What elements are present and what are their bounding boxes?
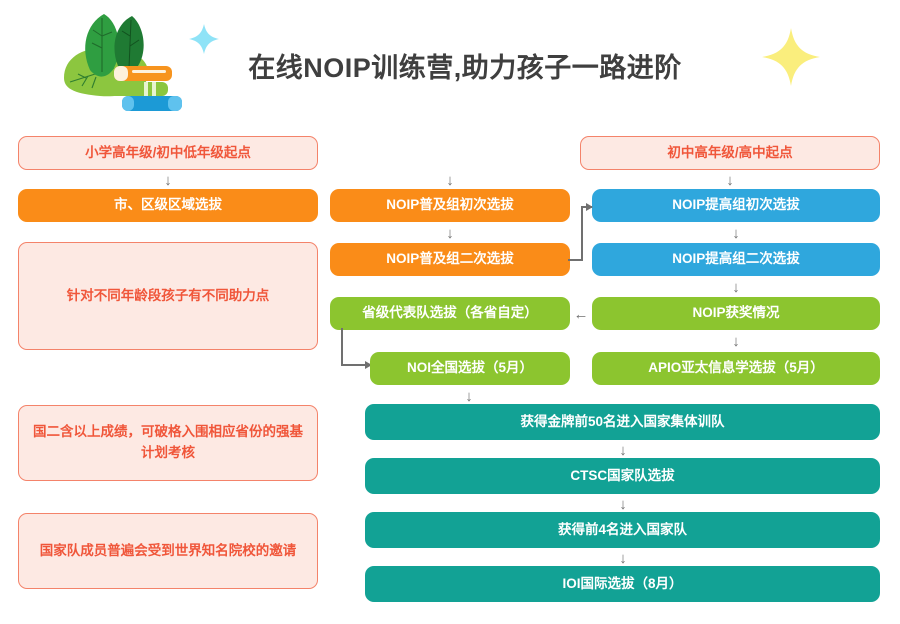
popular-first-box[interactable]: NOIP普及组初次选拔 [330, 189, 570, 222]
apio-box[interactable]: APIO亚太信息学选拔（5月） [592, 352, 880, 385]
ioi-box[interactable]: IOI国际选拔（8月） [365, 566, 880, 602]
noi-national-box[interactable]: NOI全国选拔（5月） [370, 352, 570, 385]
arrow-down-icon: ↓ [462, 386, 476, 406]
ctsc-box[interactable]: CTSC国家队选拔 [365, 458, 880, 494]
arrow-down-icon: ↓ [616, 494, 630, 514]
page-title: 在线NOIP训练营,助力孩子一路进阶 [230, 40, 700, 90]
arrow-down-icon: ↓ [729, 223, 743, 243]
header: 在线NOIP训练营,助力孩子一路进阶 [0, 0, 900, 120]
start-label-primary[interactable]: 小学高年级/初中低年级起点 [18, 136, 318, 170]
note-guoer-box[interactable]: 国二含以上成绩，可破格入围相应省份的强基计划考核 [18, 405, 318, 481]
arrow-down-icon: ↓ [161, 170, 175, 190]
flowchart-page: 在线NOIP训练营,助力孩子一路进阶 小学高年级/初中低年级起点 ↓ 市、区级区… [0, 0, 900, 624]
elbow-connector-popular-to-advanced [566, 196, 598, 266]
note-age-box[interactable]: 针对不同年龄段孩子有不同助力点 [18, 242, 318, 350]
popular-second-box[interactable]: NOIP普及组二次选拔 [330, 243, 570, 276]
note-national-team-box[interactable]: 国家队成员普遍会受到世界知名院校的邀请 [18, 513, 318, 589]
sparkle-cyan-icon [189, 24, 219, 54]
arrow-left-icon: ← [570, 307, 592, 321]
arrow-down-icon: ↓ [729, 277, 743, 297]
sparkle-yellow-icon [758, 22, 828, 92]
arrow-down-icon: ↓ [729, 331, 743, 351]
arrow-down-icon: ↓ [723, 170, 737, 190]
gold-top50-box[interactable]: 获得金牌前50名进入国家集体训队 [365, 404, 880, 440]
regional-selection-box[interactable]: 市、区级区域选拔 [18, 189, 318, 222]
start-label-secondary[interactable]: 初中高年级/高中起点 [580, 136, 880, 170]
arrow-down-icon: ↓ [616, 548, 630, 568]
leaf-books-illustration [52, 6, 242, 116]
provincial-team-box[interactable]: 省级代表队选拔（各省自定） [330, 297, 570, 330]
advanced-second-box[interactable]: NOIP提高组二次选拔 [592, 243, 880, 276]
award-status-box[interactable]: NOIP获奖情况 [592, 297, 880, 330]
arrow-down-icon: ↓ [443, 170, 457, 190]
arrow-down-icon: ↓ [616, 440, 630, 460]
arrow-down-icon: ↓ [443, 223, 457, 243]
top4-box[interactable]: 获得前4名进入国家队 [365, 512, 880, 548]
advanced-first-box[interactable]: NOIP提高组初次选拔 [592, 189, 880, 222]
book-green-icon [110, 82, 168, 96]
